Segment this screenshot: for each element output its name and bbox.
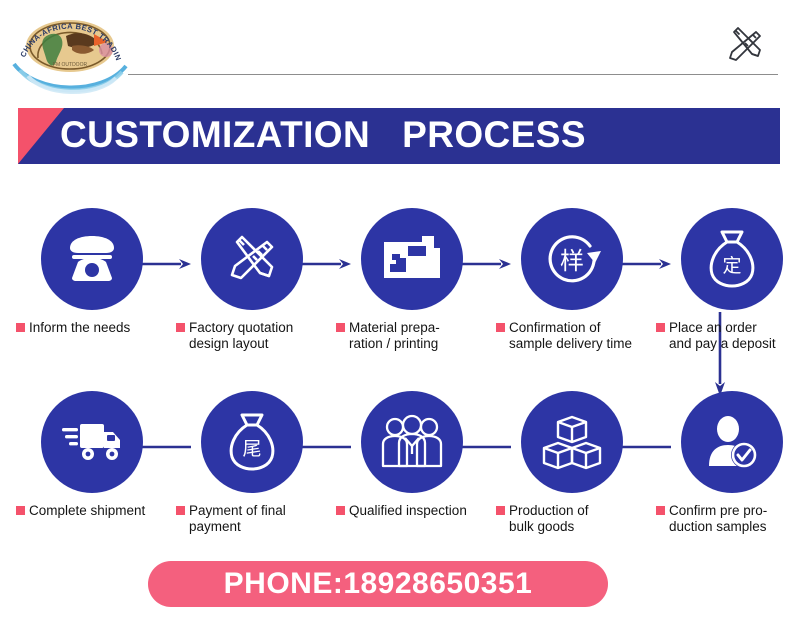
telephone-icon [62,232,122,286]
logo-subtext: FM OUTDOOR [53,62,88,68]
step-3-material-preparation[interactable]: Material prepa- ration / printing [332,208,492,352]
step-3-circle [361,208,463,310]
step-9-label: Payment of final payment [172,503,332,535]
bullet-icon [16,506,25,515]
step-2-label-line2: design layout [176,336,269,351]
step-1-label-line1: Inform the needs [29,320,130,335]
bullet-icon [336,506,345,515]
step-1-label: Inform the needs [12,320,172,336]
step-2-circle [201,208,303,310]
step-3-label: Material prepa- ration / printing [332,320,492,352]
phone-number-text: PHONE:18928650351 [224,567,533,601]
step-4-circle: 样 [521,208,623,310]
step-9-label-line1: Payment of final [189,503,286,518]
header-divider [128,74,778,75]
bullet-icon [336,323,345,332]
delivery-truck-icon [60,418,124,466]
step-4-label: Confirmation of sample delivery time [492,320,652,352]
step-6-label: Confirm pre pro- duction samples [652,503,790,535]
step-6-confirm-pre-production-samples[interactable]: Confirm pre pro- duction samples [652,391,790,535]
step-10-label: Complete shipment [12,503,172,519]
step-4-label-line2: sample delivery time [496,336,632,351]
step-5-label-line1: Place an order [669,320,757,335]
step-10-complete-shipment[interactable]: Complete shipment [12,391,172,519]
money-bag-deposit-icon: 定 [704,228,760,290]
final-payment-glyph: 尾 [242,438,261,460]
bullet-icon [16,323,25,332]
bullet-icon [496,323,505,332]
bullet-icon [176,323,185,332]
step-7-circle [521,391,623,493]
step-9-circle: 尾 [201,391,303,493]
pencil-ruler-icon [223,230,281,288]
step-8-circle [361,391,463,493]
step-4-confirmation-of-sample-delivery[interactable]: 样 Confirmation of sample delivery time [492,208,652,352]
step-10-circle [41,391,143,493]
sample-glyph: 样 [560,247,584,275]
step-2-label: Factory quotation design layout [172,320,332,352]
step-8-qualified-inspection[interactable]: Qualified inspection [332,391,492,519]
inspection-people-icon [381,414,443,470]
page-title: CUSTOMIZATION PROCESS [60,108,586,164]
page-title-secondary: PROCESS [402,114,586,155]
step-1-inform-the-needs[interactable]: Inform the needs [12,208,172,336]
phone-banner[interactable]: PHONE:18928650351 [148,561,608,607]
step-5-circle: 定 [681,208,783,310]
user-check-icon [703,414,761,470]
step-2-label-line1: Factory quotation [189,320,293,335]
sample-refresh-icon: 样 [541,229,603,289]
step-1-circle [41,208,143,310]
step-3-label-line1: Material prepa- [349,320,440,335]
step-10-label-line1: Complete shipment [29,503,145,518]
step-6-label-line2: duction samples [656,519,767,534]
step-9-payment-of-final-payment[interactable]: 尾 Payment of final payment [172,391,332,535]
step-8-label-line1: Qualified inspection [349,503,467,518]
step-5-label: Place an order and pay a deposit [652,320,790,352]
boxes-icon [542,413,602,471]
step-3-label-line2: ration / printing [336,336,438,351]
step-4-label-line1: Confirmation of [509,320,601,335]
step-6-circle [681,391,783,493]
printing-machine-icon [382,234,442,284]
page-title-main: CUSTOMIZATION [60,114,370,155]
step-6-label-line1: Confirm pre pro- [669,503,767,518]
step-5-place-order-pay-deposit[interactable]: 定 Place an order and pay a deposit [652,208,790,352]
deposit-glyph: 定 [722,255,741,277]
bullet-icon [656,323,665,332]
step-7-label-line1: Production of [509,503,589,518]
step-5-label-line2: and pay a deposit [656,336,776,351]
money-bag-final-icon: 尾 [224,411,280,473]
bullet-icon [496,506,505,515]
bullet-icon [176,506,185,515]
bullet-icon [656,506,665,515]
pencil-ruler-icon [722,22,768,68]
step-9-label-line2: payment [176,519,241,534]
step-2-factory-quotation[interactable]: Factory quotation design layout [172,208,332,352]
brand-logo: CHINA-AFRICA BEST TRADING PLATFORM FM OU… [6,2,134,98]
page-header: CHINA-AFRICA BEST TRADING PLATFORM FM OU… [0,0,790,100]
step-7-production-of-bulk-goods[interactable]: Production of bulk goods [492,391,652,535]
step-7-label: Production of bulk goods [492,503,652,535]
step-8-label: Qualified inspection [332,503,492,519]
step-7-label-line2: bulk goods [496,519,574,534]
